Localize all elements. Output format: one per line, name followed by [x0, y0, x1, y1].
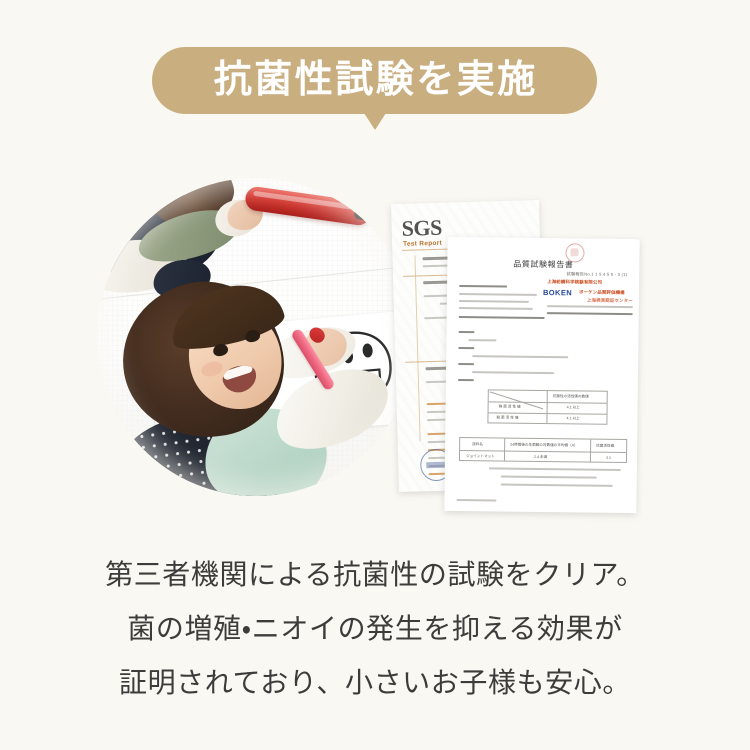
- boken-line: [459, 293, 537, 296]
- table-header-cell: 抗菌性の活性値の数値: [553, 394, 589, 399]
- table-cell: 4.1: [606, 456, 611, 460]
- table-header-cell: 24時間後の生菌数の対数値の平均値（A）: [510, 443, 578, 449]
- boken-brand-logo: BOKEN: [543, 288, 572, 297]
- boken-line: [472, 371, 554, 374]
- table-cell: 4.1 以上: [566, 416, 579, 421]
- caption-line-1: 第三者機関による抗菌性の試験をクリア。: [0, 548, 750, 602]
- boken-line: [472, 355, 568, 358]
- sgs-logo: SGS: [401, 215, 442, 242]
- boken-line: [459, 300, 529, 302]
- red-roller-cap: [354, 197, 375, 221]
- boken-line: [468, 339, 496, 341]
- boken-doc-number: 試験報告No.1 1 5 4 5 5 - 3 (1): [567, 271, 628, 278]
- test-report-documents: SGS Test Report: [390, 196, 646, 522]
- sgs-side-rule: [414, 255, 420, 441]
- table-row-divider: [460, 450, 626, 453]
- specimen-result-table: 試料名 24時間後の生菌数の対数値の平均値（A） 抗菌活性値 ジョイントマット …: [459, 437, 627, 463]
- boken-line: [459, 331, 475, 333]
- boken-line: [458, 379, 474, 381]
- boken-line: [547, 312, 633, 315]
- boken-report-title: 品質試験報告書: [447, 258, 639, 271]
- badge-pill: 抗菌性試験を実施: [152, 47, 597, 114]
- boken-line: [458, 363, 474, 365]
- boken-org-line: ボーケン品質評価機構: [579, 289, 625, 296]
- table-cell: ジョイントマット: [466, 454, 495, 459]
- table-cell: 静 菌 活 性 値: [499, 404, 521, 409]
- boken-org-line: 上海紡績科学検験有限公司: [547, 279, 602, 286]
- boken-footnote-line: [501, 484, 613, 487]
- photo-scene: [97, 178, 415, 496]
- caption-line-2: 菌の増殖・ニオイの発生を抑える効果が: [0, 602, 750, 656]
- caption-text: 第三者機関による抗菌性の試験をクリア。 菌の増殖・ニオイの発生を抑える効果が 証…: [0, 548, 750, 710]
- table-col-divider: [590, 440, 591, 462]
- header-badge: 抗菌性試験を実施: [152, 47, 597, 114]
- boken-line: [459, 285, 507, 287]
- boken-quality-report-document: 品質試験報告書 試験報告No.1 1 5 4 5 5 - 3 (1) 上海紡績科…: [444, 237, 639, 513]
- boken-line: [547, 305, 633, 308]
- marketing-banner: 抗菌性試験を実施: [0, 0, 750, 750]
- boken-line: [459, 316, 545, 319]
- boken-org-line: 上海検測認証センター: [587, 298, 633, 305]
- antibacterial-activity-table: 抗菌性の活性値の数値 静 菌 活 性 値 4.1 以上 殺 菌 活 性 値 4.…: [487, 389, 607, 424]
- table-header-cell: 抗菌活性値: [596, 444, 614, 449]
- caption-line-3: 証明されており、小さいお子様も安心。: [0, 656, 750, 710]
- table-cell: 4.1 以上: [567, 405, 580, 410]
- product-photo-circle: [97, 178, 415, 496]
- boken-footnote-line: [501, 476, 597, 479]
- table-header-cell: 試料名: [472, 442, 483, 447]
- sgs-subtitle: Test Report: [403, 240, 442, 248]
- table-col-divider: [504, 439, 505, 461]
- boken-footnote-line: [489, 467, 621, 470]
- boken-line: [458, 347, 474, 349]
- boken-footnote-line: [456, 499, 496, 501]
- badge-title: 抗菌性試験を実施: [211, 61, 538, 99]
- badge-pointer-tail: [364, 113, 386, 130]
- table-cell: 殺 菌 活 性 値: [496, 415, 518, 420]
- table-cell: 2.4 未満: [534, 455, 547, 460]
- table-col-divider: [546, 391, 547, 423]
- boken-line: [459, 307, 533, 309]
